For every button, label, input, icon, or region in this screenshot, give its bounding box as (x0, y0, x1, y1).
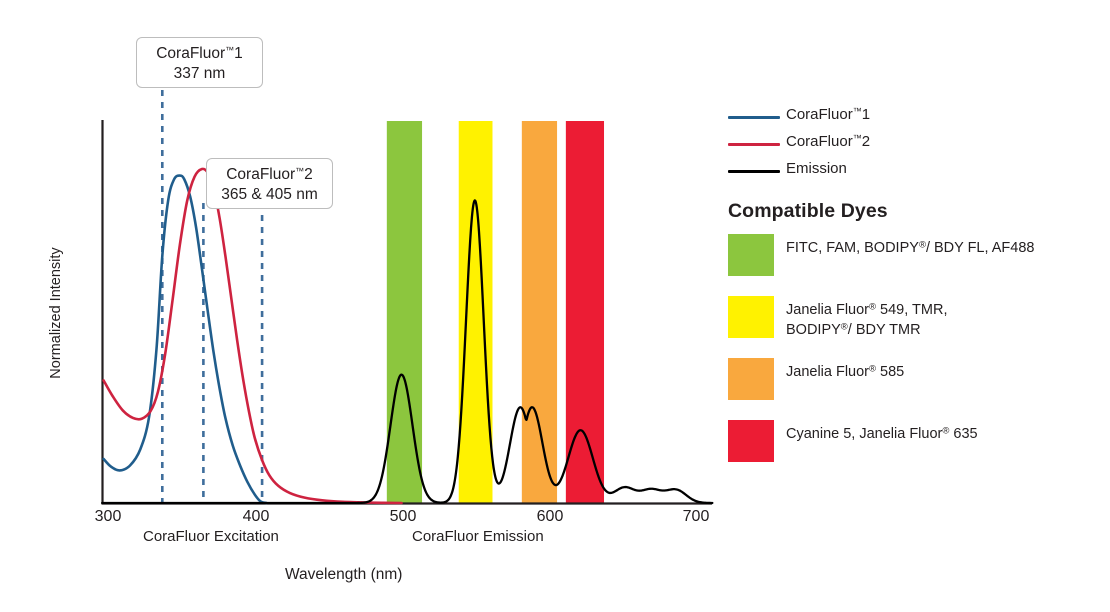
trademark-symbol: ™ (225, 45, 234, 55)
legend-series-emission: Emission (728, 158, 1098, 185)
dye-label-yellow: Janelia Fluor® 549, TMR, BODIPY®/ BDY TM… (786, 301, 947, 340)
dye-color-swatch-yellow (728, 296, 774, 338)
legend-series-corafluor-2: CoraFluor™2 (728, 131, 1098, 158)
registered-symbol: ® (869, 301, 876, 312)
callout-2-line1: CoraFluor™2 (217, 165, 322, 185)
dye-color-swatch-orange (728, 358, 774, 400)
dye-color-swatch-green (728, 234, 774, 276)
green-band (387, 121, 422, 503)
trademark-symbol: ™ (853, 133, 862, 143)
callout-1-line1: CoraFluor™1 (147, 44, 252, 64)
callout-corafluor-2: CoraFluor™2 365 & 405 nm (206, 158, 333, 209)
dye-row-orange: Janelia Fluor® 585 (728, 358, 1098, 420)
dye-row-yellow: Janelia Fluor® 549, TMR, BODIPY®/ BDY TM… (728, 296, 1098, 358)
region-label-emission: CoraFluor Emission (412, 528, 544, 545)
curve-corafluor-1 (104, 176, 267, 503)
compatible-dyes-list: FITC, FAM, BODIPY®/ BDY FL, AF488 Janeli… (728, 234, 1098, 482)
chart-area: CoraFluor™1 337 nm CoraFluor™2 365 & 405… (0, 0, 720, 612)
legend-line-swatch-emission (728, 170, 780, 173)
region-label-excitation: CoraFluor Excitation (143, 528, 279, 545)
orange-band (522, 121, 557, 503)
dye-label-red: Cyanine 5, Janelia Fluor® 635 (786, 425, 978, 445)
excitation-marker-group (162, 90, 262, 503)
registered-symbol: ® (841, 321, 848, 332)
figure-root: CoraFluor™1 337 nm CoraFluor™2 365 & 405… (0, 0, 1110, 612)
legend-label-corafluor-1: CoraFluor™1 (786, 106, 870, 123)
dye-color-swatch-red (728, 420, 774, 462)
xtick-500: 500 (373, 508, 433, 526)
dye-row-red: Cyanine 5, Janelia Fluor® 635 (728, 420, 1098, 482)
xtick-300: 300 (78, 508, 138, 526)
registered-symbol: ® (919, 239, 926, 250)
trademark-symbol: ™ (295, 166, 304, 176)
dye-label-green: FITC, FAM, BODIPY®/ BDY FL, AF488 (786, 239, 1034, 259)
curve-corafluor-2 (104, 169, 402, 503)
legend-series-corafluor-1: CoraFluor™1 (728, 104, 1098, 131)
legend-line-swatch-corafluor-2 (728, 143, 780, 146)
trademark-symbol: ™ (853, 106, 862, 116)
registered-symbol: ® (869, 363, 876, 374)
legend-line-swatch-corafluor-1 (728, 116, 780, 119)
callout-1-line2: 337 nm (147, 64, 252, 84)
dye-label-orange: Janelia Fluor® 585 (786, 363, 904, 383)
compatible-dyes-title: Compatible Dyes (728, 200, 888, 223)
legend-label-corafluor-2: CoraFluor™2 (786, 133, 870, 150)
callout-corafluor-1: CoraFluor™1 337 nm (136, 37, 263, 88)
legend-label-emission: Emission (786, 160, 847, 177)
y-axis-title: Normalized Intensity (48, 233, 64, 393)
legend-panel: CoraFluor™1 CoraFluor™2 Emission Compati… (728, 104, 1098, 185)
x-axis-title: Wavelength (nm) (285, 566, 402, 584)
xtick-700: 700 (666, 508, 726, 526)
dye-row-green: FITC, FAM, BODIPY®/ BDY FL, AF488 (728, 234, 1098, 296)
xtick-400: 400 (226, 508, 286, 526)
callout-2-line2: 365 & 405 nm (217, 185, 322, 205)
xtick-600: 600 (520, 508, 580, 526)
yellow-band (459, 121, 493, 503)
